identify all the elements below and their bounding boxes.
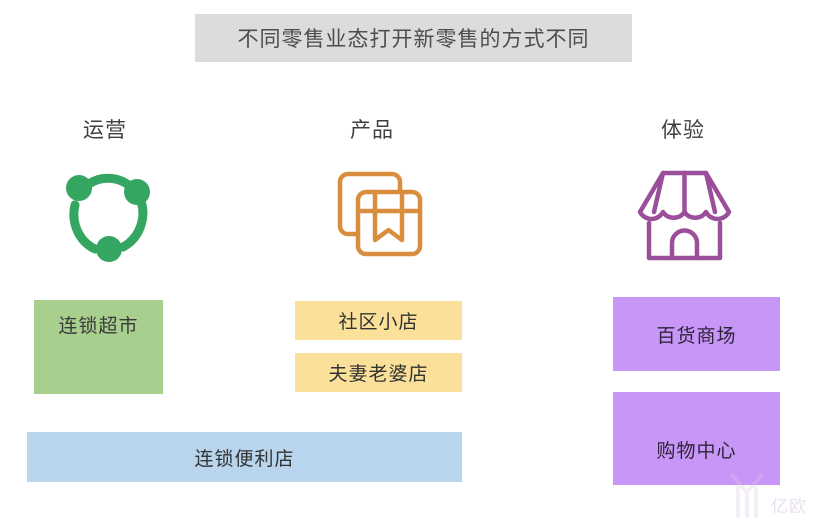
category-label: 购物中心 xyxy=(656,436,736,463)
slide-title-bar: 不同零售业态打开新零售的方式不同 xyxy=(195,14,632,62)
category-label: 连锁便利店 xyxy=(194,444,294,471)
category-box-chain-supermarket[interactable]: 连锁超市 xyxy=(34,300,163,394)
category-box-department-store[interactable]: 百货商场 xyxy=(613,297,780,371)
category-box-chain-convenience-store[interactable]: 连锁便利店 xyxy=(27,432,462,482)
storefront-icon xyxy=(632,165,737,265)
cycle-nodes-icon xyxy=(55,163,161,265)
column-header-product: 产品 xyxy=(350,114,394,144)
slide-canvas: 不同零售业态打开新零售的方式不同 运营 产品 体验 xyxy=(0,0,824,525)
category-label: 社区小店 xyxy=(338,307,418,334)
category-box-shopping-mall[interactable]: 购物中心 xyxy=(613,392,780,485)
category-box-mom-and-pop-store[interactable]: 夫妻老婆店 xyxy=(295,353,462,392)
category-box-community-shop[interactable]: 社区小店 xyxy=(295,301,462,340)
watermark-text: 亿欧 xyxy=(771,492,807,517)
category-label: 连锁超市 xyxy=(58,311,138,338)
slide-title-text: 不同零售业态打开新零售的方式不同 xyxy=(238,23,590,53)
column-header-operations: 运营 xyxy=(83,114,127,144)
category-label: 夫妻老婆店 xyxy=(328,359,428,386)
category-label: 百货商场 xyxy=(656,321,736,348)
package-boxes-icon xyxy=(330,165,430,265)
column-header-experience: 体验 xyxy=(661,114,705,144)
